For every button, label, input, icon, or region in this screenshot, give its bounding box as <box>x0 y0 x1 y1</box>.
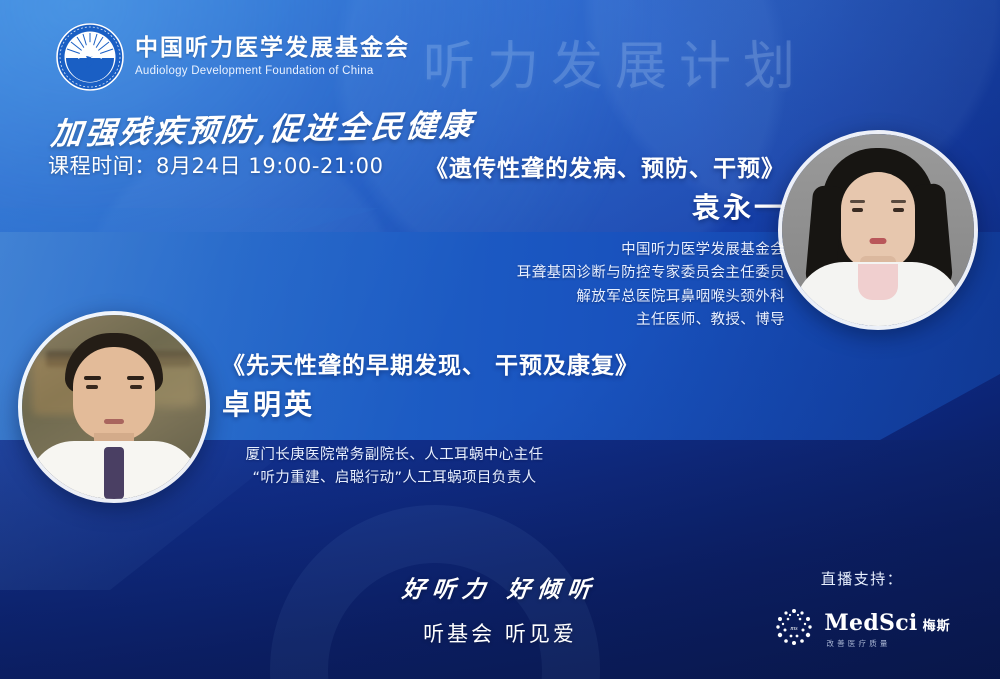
speaker-name: 袁永一 <box>365 190 785 225</box>
sponsor-name-cn: 梅斯 <box>923 615 951 634</box>
speaker-credential: 耳聋基因诊断与防控专家委员会主任委员 <box>365 262 785 285</box>
course-time: 课程时间：8月24日 19:00-21:00 <box>48 150 384 180</box>
speaker-credential: 解放军总医院耳鼻咽喉头颈外科 <box>365 286 785 309</box>
speaker-block-two: 《先天性聋的早期发现、 干预及康复》 卓明英 厦门长庚医院常务副院长、人工耳蜗中… <box>222 352 742 491</box>
speaker-credential: 主任医师、教授、博导 <box>365 309 785 332</box>
speaker-block-one: 《遗传性聋的发病、预防、干预》 袁永一 中国听力医学发展基金会 耳聋基因诊断与防… <box>365 155 785 333</box>
medsci-dots-logo-icon: ms <box>773 606 815 653</box>
talk-title: 《先天性聋的早期发现、 干预及康复》 <box>222 352 742 382</box>
foundation-name-en: Audiology Development Foundation of Chin… <box>135 65 410 77</box>
dove-sunrise-emblem-icon <box>55 22 125 92</box>
sponsor-name-en: MedSci <box>824 610 917 636</box>
speaker-credential: 中国听力医学发展基金会 <box>365 239 785 262</box>
speaker-credential: 厦门长庚医院常务副院长、人工耳蜗中心主任 <box>222 444 567 467</box>
foundation-name-cn: 中国听力医学发展基金会 <box>135 35 410 61</box>
speaker-portrait-one <box>778 130 978 330</box>
sponsor-tagline: 改善医疗质量 <box>826 638 950 649</box>
watermark-title: 听力发展计划 <box>423 24 807 99</box>
foundation-logo: 中国听力医学发展基金会 Audiology Development Founda… <box>55 22 410 92</box>
svg-text:ms: ms <box>791 625 799 632</box>
sponsor-logo: ms MedSci 梅斯 改善医疗质量 <box>752 606 972 653</box>
campaign-slogan: 加强残疾预防,促进全民健康 <box>49 100 476 154</box>
support-label: 直播支持： <box>752 568 972 589</box>
speaker-name: 卓明英 <box>222 387 742 422</box>
talk-title: 《遗传性聋的发病、预防、干预》 <box>365 155 785 185</box>
event-poster: 听力发展计划 中国听力医学发展基金会 <box>0 0 1000 679</box>
broadcast-support: 直播支持： <box>752 568 972 653</box>
speaker-credential: “听力重建、启聪行动”人工耳蜗项目负责人 <box>222 467 567 490</box>
avatar <box>22 315 206 499</box>
speaker-portrait-two <box>18 311 210 503</box>
avatar <box>782 134 974 326</box>
